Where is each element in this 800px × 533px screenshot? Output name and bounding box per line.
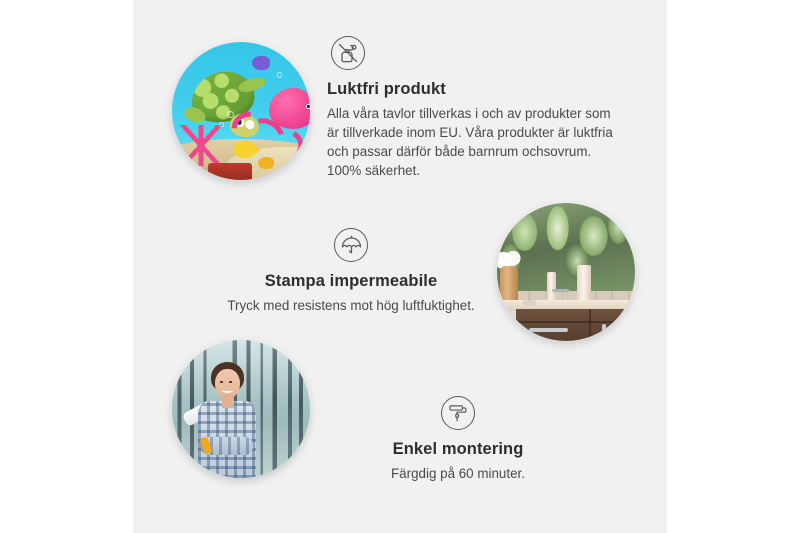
fish-icon — [258, 157, 275, 169]
feature-waterproof-title: Stampa impermeabile — [201, 271, 501, 292]
bubble-icon — [219, 122, 224, 127]
fish-icon — [233, 141, 255, 158]
aquarium-artwork — [172, 42, 310, 180]
feature-odourless-icon-wrap — [327, 36, 615, 70]
painter-artwork — [172, 340, 310, 478]
image-bathroom — [497, 203, 635, 341]
cabinet-seam — [516, 321, 635, 323]
no-fragrance-icon — [331, 36, 365, 70]
infographic-canvas: Luktfri produkt Alla våra tavlor tillver… — [133, 0, 667, 533]
feature-waterproof-icon-wrap — [201, 228, 501, 262]
woman-neck — [222, 395, 234, 407]
umbrella-icon — [334, 228, 368, 262]
bottle-object — [577, 265, 591, 302]
feature-assembly-title: Enkel montering — [323, 439, 593, 460]
image-aquarium — [172, 42, 310, 180]
bubble-icon — [227, 111, 234, 118]
feature-waterproof: Stampa impermeabile Tryck med resistens … — [201, 228, 501, 315]
feature-odourless-description: Alla våra tavlor tillverkas i och av pro… — [327, 104, 615, 180]
vanity-cabinet — [516, 309, 635, 341]
faucet-object — [552, 289, 569, 292]
woman-smile — [222, 388, 233, 393]
bottle-object — [547, 272, 557, 302]
feature-assembly-description: Färgdig på 60 minuter. — [323, 464, 593, 483]
feature-assembly-icon-wrap — [323, 396, 593, 430]
drawer-handle — [529, 328, 568, 332]
treasure-chest — [208, 163, 252, 180]
woman-eye-right — [229, 381, 231, 383]
feature-assembly: Enkel montering Färgdig på 60 minuter. — [323, 396, 593, 483]
coral-icon — [180, 125, 221, 166]
octopus-eye — [306, 104, 310, 109]
feature-odourless-title: Luktfri produkt — [327, 79, 615, 100]
cabinet-seam — [589, 309, 591, 341]
door-handle — [602, 324, 606, 335]
image-painter — [172, 340, 310, 478]
feature-waterproof-description: Tryck med resistens mot hög luftfuktighe… — [201, 296, 501, 315]
paint-roller-icon — [441, 396, 475, 430]
fish-icon — [252, 56, 270, 70]
infographic-page: Luktfri produkt Alla våra tavlor tillver… — [0, 0, 800, 533]
feature-odourless: Luktfri produkt Alla våra tavlor tillver… — [327, 36, 615, 180]
woman-eye-left — [220, 381, 222, 383]
bathroom-artwork — [497, 203, 635, 341]
